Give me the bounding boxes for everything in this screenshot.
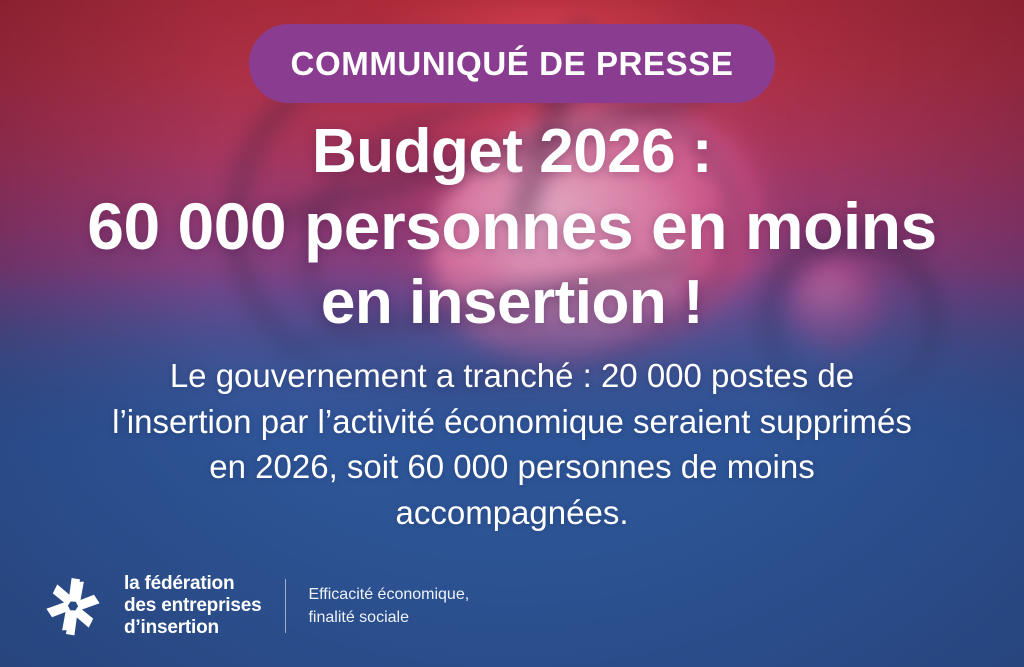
logo-name-line-3: d’insertion [124, 617, 261, 639]
asterisk-star-icon [36, 571, 110, 641]
tagline-line-2: finalité sociale [308, 606, 469, 629]
headline-line-2: 60 000 personnes en moins [32, 188, 992, 266]
headline-line-3: en insertion ! [32, 266, 992, 339]
headline: Budget 2026 : 60 000 personnes en moins … [32, 115, 992, 339]
press-release-banner: COMMUNIQUÉ DE PRESSE Budget 2026 : 60 00… [0, 0, 1024, 667]
body-paragraph: Le gouvernement a tranché : 20 000 poste… [97, 353, 927, 535]
tagline-line-1: Efficacité économique, [308, 583, 469, 606]
logo-name-line-1: la fédération [124, 573, 261, 595]
logo-lockup: la fédération des entreprises d’insertio… [36, 571, 469, 641]
press-release-badge: COMMUNIQUÉ DE PRESSE [249, 24, 776, 103]
headline-line-1: Budget 2026 : [32, 115, 992, 188]
body-line-1: Le gouvernement a tranché : 20 000 poste… [170, 357, 854, 394]
logo-divider [285, 579, 286, 633]
logo-name-line-2: des entreprises [124, 595, 261, 617]
content-stack: COMMUNIQUÉ DE PRESSE Budget 2026 : 60 00… [0, 0, 1024, 667]
logo-wordmark: la fédération des entreprises d’insertio… [124, 573, 261, 639]
logo-tagline: Efficacité économique, finalité sociale [308, 583, 469, 629]
body-line-2: l’insertion par l’activité économique se… [112, 403, 750, 440]
